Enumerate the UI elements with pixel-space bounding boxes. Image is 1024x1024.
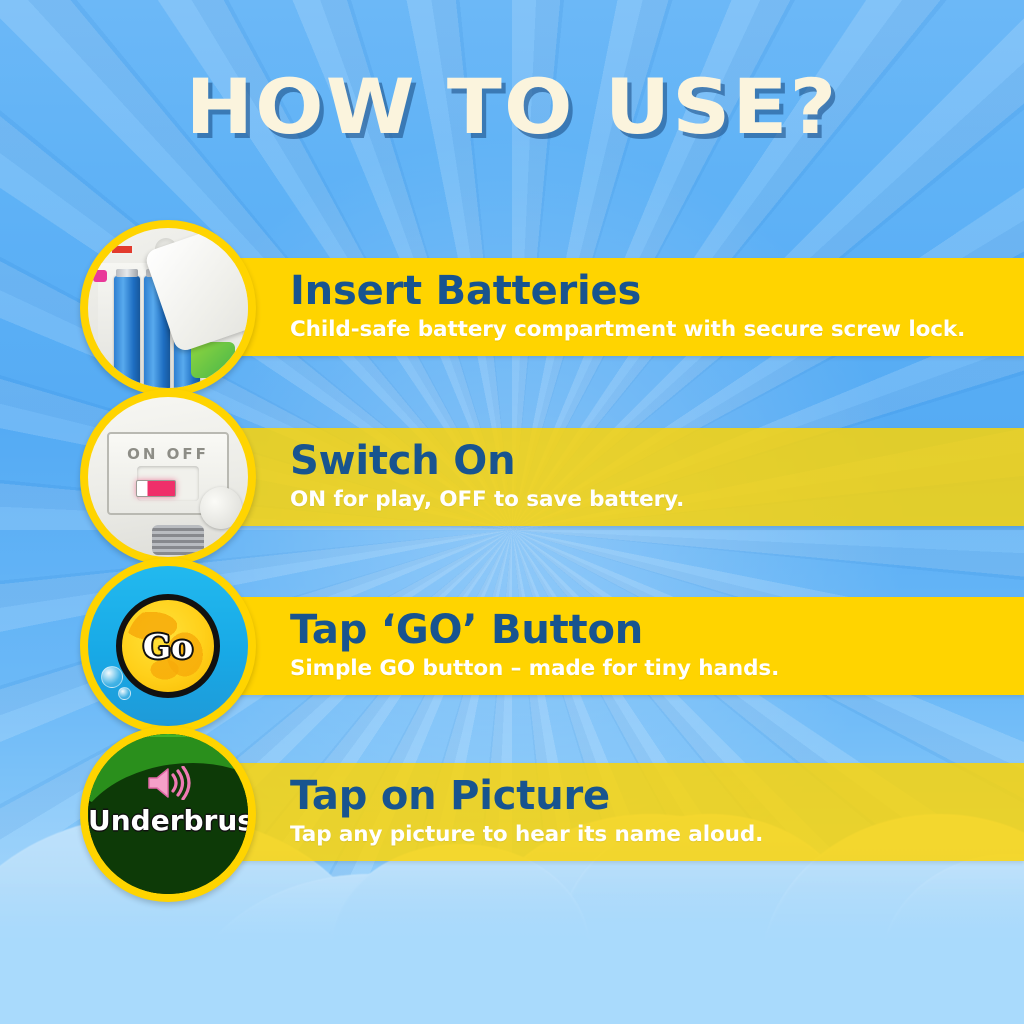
switch-label: ON OFF [109, 445, 227, 463]
step-thumbnail-1[interactable]: Open white battery compartment with thre… [80, 220, 256, 396]
step-bar-4: Tap on Picture Tap any picture to hear i… [140, 763, 1024, 861]
step-title-1: Insert Batteries [290, 271, 1006, 312]
go-button-photo: Go [88, 566, 248, 726]
battery-compartment-photo [88, 228, 248, 388]
power-switch-icon [136, 480, 176, 497]
infographic-canvas: HOW TO USE? Insert Batteries Child-safe … [0, 0, 1024, 1024]
step-description-2: ON for play, OFF to save battery. [290, 487, 1006, 513]
go-button-label: Go [143, 627, 193, 666]
tap-picture-photo: Underbrush [88, 734, 248, 894]
step-title-2: Switch On [290, 441, 1006, 482]
step-thumbnail-3-alt: Yellow globe GO button on blue backgroun… [88, 726, 89, 727]
steps-list: Insert Batteries Child-safe battery comp… [0, 0, 1024, 1024]
step-bar-3: Tap ‘GO’ Button Simple GO button – made … [140, 597, 1024, 695]
step-bar-2: Switch On ON for play, OFF to save batte… [140, 428, 1024, 526]
on-off-switch-photo: ON OFF [88, 397, 248, 557]
step-thumbnail-3[interactable]: Go Yellow globe GO button on blue backgr… [80, 558, 256, 734]
step-title-4: Tap on Picture [290, 776, 1006, 817]
step-title-3: Tap ‘GO’ Button [290, 610, 1006, 651]
step-thumbnail-2[interactable]: ON OFF White ON OFF slider switch with r… [80, 389, 256, 565]
go-button-icon[interactable]: Go [116, 594, 220, 698]
step-description-3: Simple GO button – made for tiny hands. [290, 656, 1006, 682]
step-thumbnail-2-alt: White ON OFF slider switch with red togg… [88, 557, 89, 558]
speaker-icon [145, 766, 191, 805]
step-description-1: Child-safe battery compartment with secu… [290, 317, 1006, 343]
step-thumbnail-1-alt: Open white battery compartment with thre… [88, 388, 89, 389]
picture-caption: Underbrush [88, 804, 248, 837]
step-thumbnail-4-alt: Dark green scene with speaker icon and c… [88, 894, 89, 895]
step-thumbnail-4[interactable]: Underbrush Dark green scene with speaker… [80, 726, 256, 902]
step-description-4: Tap any picture to hear its name aloud. [290, 822, 1006, 848]
step-bar-1: Insert Batteries Child-safe battery comp… [140, 258, 1024, 356]
